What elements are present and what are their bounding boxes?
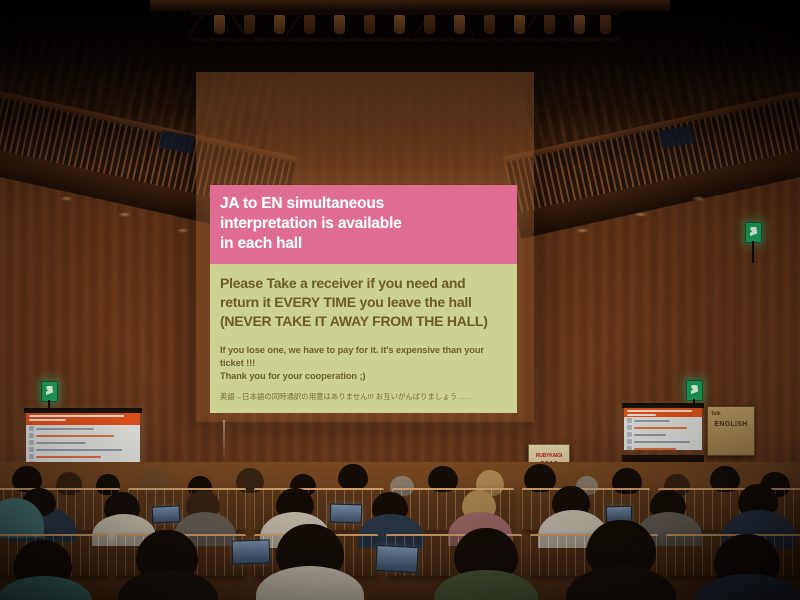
side-screen-title-bar	[26, 413, 140, 425]
schedule-row	[26, 425, 140, 432]
row-marker	[627, 418, 632, 423]
slide-japanese-line-1: 英語→日本語の同時通訳の用意はありません!!! お互いがんばりましょう……	[220, 392, 507, 402]
stage-light	[334, 15, 345, 34]
row-marker	[627, 446, 632, 450]
slide-body-line-3: (NEVER TAKE IT AWAY FROM THE HALL)	[220, 312, 507, 331]
downlight	[176, 228, 189, 233]
stage-light	[574, 15, 585, 34]
stage-light	[424, 15, 435, 34]
slide-header-block: JA to EN simultaneous interpretation is …	[210, 185, 517, 264]
row-text	[36, 442, 86, 444]
downlight	[60, 196, 73, 201]
row-text	[634, 427, 687, 429]
stage-light	[214, 15, 225, 34]
side-screen-canvas-left	[26, 413, 140, 468]
row-text	[634, 441, 690, 443]
row-text	[36, 456, 101, 458]
row-marker	[29, 426, 34, 431]
slide-body-line-1: Please Take a receiver if you need and	[220, 274, 507, 293]
side-screen-canvas-right	[624, 408, 702, 450]
screen-cable	[223, 420, 225, 460]
schedule-row	[26, 446, 140, 453]
stage-light	[544, 15, 555, 34]
exit-sign	[686, 380, 703, 401]
row-marker	[627, 439, 632, 444]
row-marker	[29, 440, 34, 445]
side-screen-title-bar	[624, 408, 702, 417]
row-text	[36, 428, 94, 430]
slide-body-line-2: return it EVERY TIME you leave the hall	[220, 293, 507, 312]
schedule-row	[624, 445, 702, 450]
schedule-row	[624, 431, 702, 438]
row-marker	[29, 454, 34, 459]
exit-runner-icon	[46, 386, 53, 398]
slide-note-line-2: Thank you for your cooperation ;)	[220, 370, 507, 383]
slide-body-block: Please Take a receiver if you need and r…	[210, 264, 517, 334]
row-marker	[29, 433, 34, 438]
row-text	[634, 448, 676, 450]
audience-laptop	[330, 503, 363, 523]
projected-announcement-slide: JA to EN simultaneous interpretation is …	[210, 185, 517, 413]
schedule-row	[26, 453, 140, 460]
english-sign-small-label: Talk	[711, 411, 751, 417]
conference-hall-photo: JA to EN simultaneous interpretation is …	[0, 0, 800, 600]
slide-header-line-3: in each hall	[220, 234, 507, 254]
exit-runner-icon	[691, 385, 698, 397]
audience-area	[0, 462, 800, 600]
downlight	[576, 228, 589, 233]
row-text	[36, 449, 122, 451]
downlight	[634, 212, 647, 217]
downlight	[118, 212, 131, 217]
row-marker	[627, 432, 632, 437]
audience-laptop	[232, 539, 271, 564]
row-text	[634, 434, 666, 436]
schedule-row	[624, 424, 702, 431]
stage-light	[244, 15, 255, 34]
slide-note-line-1: If you lose one, we have to pay for it. …	[220, 344, 507, 370]
stage-light	[600, 15, 611, 34]
row-marker	[627, 425, 632, 430]
truss-bar-bottom	[190, 38, 620, 41]
schedule-row	[26, 432, 140, 439]
stage-light	[274, 15, 285, 34]
exit-runner-icon	[750, 227, 757, 239]
title-line	[627, 414, 656, 416]
stage-light	[304, 15, 315, 34]
row-text	[36, 435, 114, 437]
exit-sign	[41, 381, 58, 402]
audience-head	[338, 464, 368, 490]
stage-light	[484, 15, 495, 34]
row-text	[634, 420, 670, 422]
lighting-truss	[190, 4, 620, 44]
schedule-row	[26, 439, 140, 446]
stage-light	[394, 15, 405, 34]
slide-header-line-2: interpretation is available	[220, 214, 507, 234]
banner-line-1: RUBYKAIGI	[536, 453, 562, 459]
slide-note-block: If you lose one, we have to pay for it. …	[210, 334, 517, 382]
side-projection-screen-right	[622, 403, 704, 466]
schedule-row	[624, 417, 702, 424]
stage-light	[364, 15, 375, 34]
exit-sign	[745, 222, 762, 243]
audience-laptop	[152, 505, 181, 523]
row-marker	[29, 447, 34, 452]
slide-header-line-1: JA to EN simultaneous	[220, 194, 507, 214]
title-line	[29, 415, 124, 417]
truss-bar-top	[190, 12, 620, 15]
english-sign-big-label: ENGLISH	[711, 421, 751, 428]
stage-light	[454, 15, 465, 34]
slide-japanese-block: 英語→日本語の同時通訳の用意はありません!!! お互いがんばりましょう……	[210, 383, 517, 402]
downlight	[692, 196, 705, 201]
schedule-row	[624, 438, 702, 445]
english-hall-sign: Talk ENGLISH	[707, 406, 755, 456]
exit-sign-post	[752, 241, 754, 263]
audience-laptop	[375, 545, 418, 573]
title-line	[627, 410, 692, 412]
title-line	[29, 419, 66, 421]
stage-light	[514, 15, 525, 34]
